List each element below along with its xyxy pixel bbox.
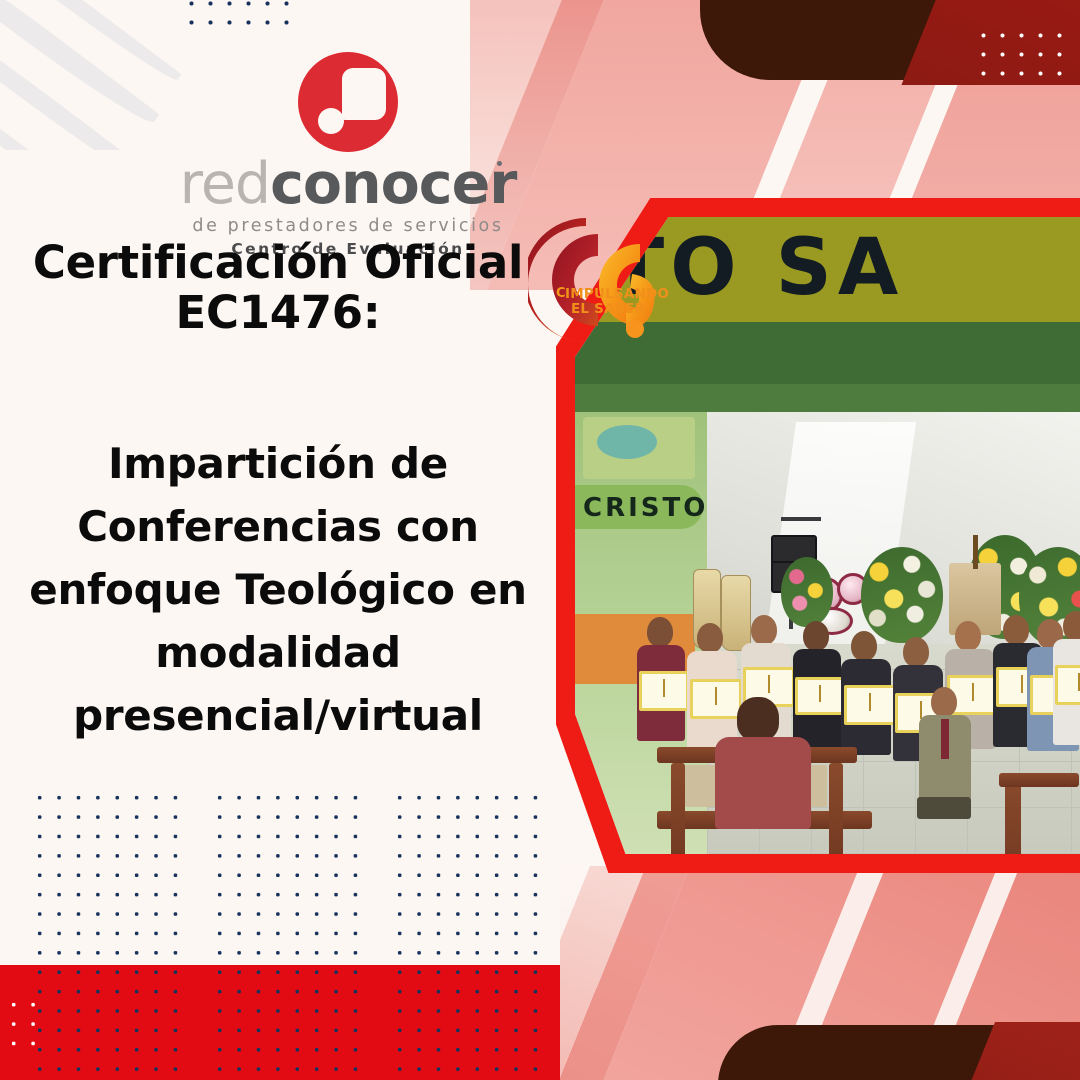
logo-square-shape xyxy=(342,68,386,120)
cc-tagline-line-2: EL SABER xyxy=(571,301,646,317)
subheadline-line-4: modalidad xyxy=(14,621,542,684)
headline-line-2: EC1476: xyxy=(14,288,542,338)
subheadline-line-2: Conferencias con xyxy=(14,495,542,558)
decor-swoosh xyxy=(0,0,160,132)
headline-line-1: Certificación Oficial xyxy=(14,238,542,288)
redconocer-wordmark: redconocer xyxy=(178,156,518,213)
redconocer-logo: redconocer de prestadores de servicios C… xyxy=(178,52,518,258)
logo-word-conocer: conocer xyxy=(270,151,516,217)
photo-sign-lower-text: CRISTO xyxy=(583,493,708,523)
logo-dot-shape xyxy=(318,108,344,134)
photo-sign-lower-band: CRISTO xyxy=(575,485,703,529)
headline: Certificación Oficial EC1476: xyxy=(14,238,542,339)
cc-impulsando-el-saber-logo: C IMPULSANDO EL SABER xyxy=(528,208,678,353)
redconocer-logo-mark xyxy=(298,52,398,152)
subheadline-line-3: enfoque Teológico en xyxy=(14,558,542,621)
subheadline-line-1: Impartición de xyxy=(14,432,542,495)
cc-orange-dot xyxy=(626,320,644,338)
logo-subtitle-1: de prestadores de servicios xyxy=(178,216,518,236)
subheadline-line-5: presencial/virtual xyxy=(14,684,542,747)
decor-red-block-bottom xyxy=(0,965,600,1080)
subheadline: Impartición de Conferencias con enfoque … xyxy=(14,432,542,747)
poster-canvas: TO SA CRISTO xyxy=(0,0,1080,1080)
logo-word-red: red xyxy=(180,151,270,217)
cc-tagline-line-1: IMPULSANDO xyxy=(565,286,669,302)
